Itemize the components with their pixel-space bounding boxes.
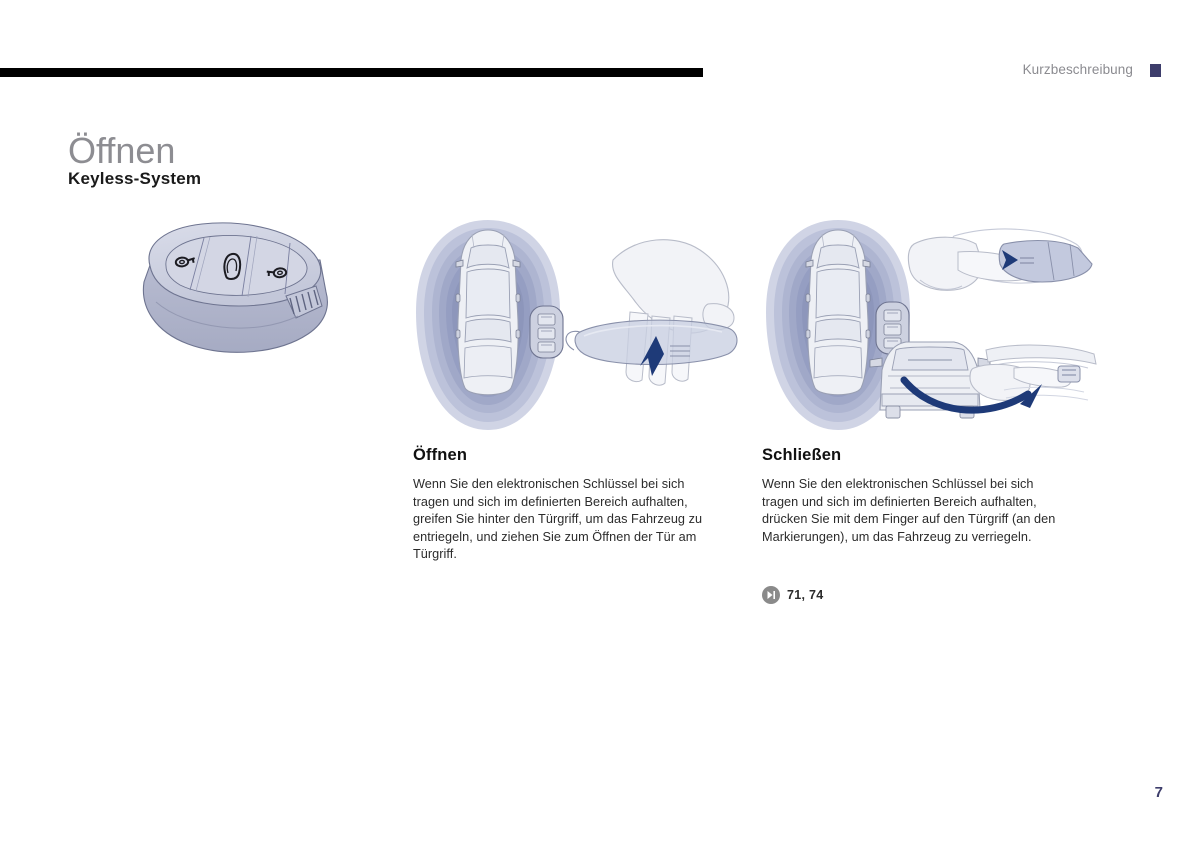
page-jump-icon: [762, 586, 780, 604]
column-open-heading: Öffnen: [413, 446, 713, 465]
keyfob-marker-icon: [530, 306, 563, 358]
hand-behind-handle: [566, 240, 737, 386]
column-close-heading: Schließen: [762, 446, 1062, 465]
section-subtitle: Keyless-System: [68, 169, 201, 189]
column-close: Schließen Wenn Sie den elektronischen Sc…: [762, 446, 1062, 546]
close-illustration-svg: [758, 208, 1103, 443]
page-reference-label: 71, 74: [787, 588, 824, 602]
column-open-body: Wenn Sie den elektronischen Schlüssel be…: [413, 476, 713, 564]
chapter-title: Kurzbeschreibung: [1023, 62, 1133, 77]
chapter-marker-icon: [1150, 64, 1161, 77]
close-illustration: [758, 208, 1103, 443]
keyfob-svg: [130, 210, 360, 380]
page-number: 7: [1155, 784, 1163, 801]
page-title: Öffnen: [68, 130, 175, 172]
finger-press-handle: [908, 229, 1092, 290]
keyfob-illustration: [130, 210, 360, 380]
manual-page: Kurzbeschreibung Öffnen Keyless-System: [0, 0, 1191, 845]
column-open: Öffnen Wenn Sie den elektronischen Schlü…: [413, 446, 713, 564]
open-illustration: [408, 208, 753, 443]
open-illustration-svg: [408, 208, 753, 443]
column-close-body: Wenn Sie den elektronischen Schlüssel be…: [762, 476, 1062, 546]
car-top-view: [806, 230, 870, 395]
page-reference[interactable]: 71, 74: [762, 586, 824, 604]
car-top-view: [456, 230, 520, 395]
header-rule: [0, 68, 703, 77]
handle-closeup: [970, 345, 1096, 400]
